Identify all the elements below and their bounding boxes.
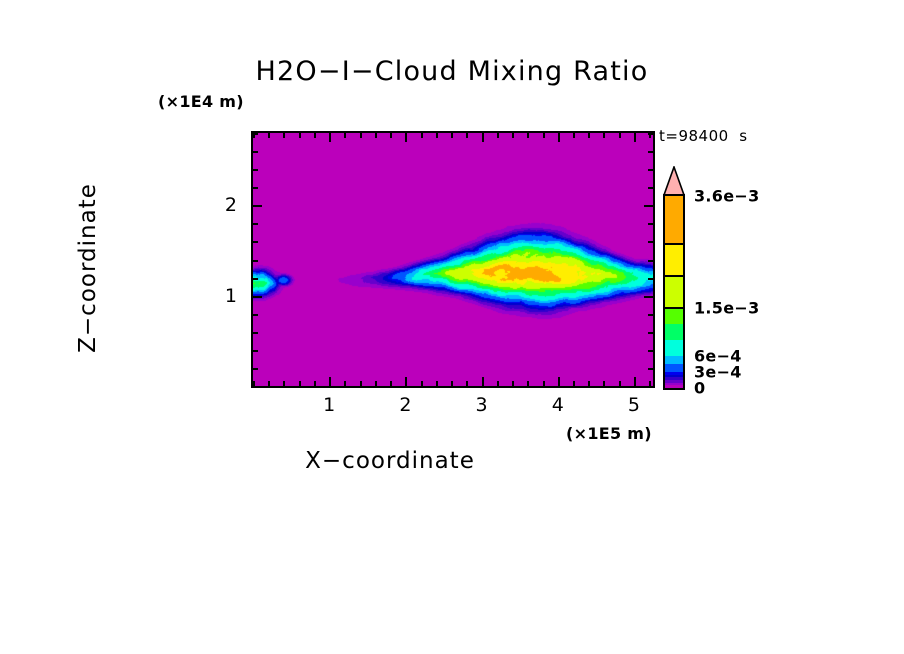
x-tick-top [390,133,392,138]
y-tick [253,278,258,280]
y-tick-right [648,223,653,225]
colorbar-band [665,244,683,276]
x-tick [466,381,468,386]
x-tick-top [375,133,377,138]
y-tick-right [648,133,653,135]
x-tick [344,381,346,386]
colorbar-band [665,377,683,380]
x-tick-top [588,133,590,138]
colorbar-band [665,308,683,324]
x-tick-label: 5 [628,394,640,416]
colorbar-band [665,364,683,372]
x-tick-top [299,133,301,138]
x-tick [482,377,484,386]
x-tick [497,381,499,386]
y-tick [253,169,258,171]
y-tick [253,332,258,334]
y-tick [253,296,262,298]
y-tick-right [644,296,653,298]
x-tick [314,381,316,386]
figure-root: H2O−I−Cloud Mixing Ratio (×1E4 m) (×1E5 … [0,0,904,654]
colorbar-band [665,196,683,244]
x-tick-label: 2 [399,394,411,416]
x-tick-top [421,133,423,138]
x-tick-top [603,133,605,138]
y-tick [253,205,262,207]
colorbar-band [665,372,683,375]
x-tick-top [573,133,575,138]
x-tick-top [314,133,316,138]
y-tick-right [644,205,653,207]
y-tick-right [648,332,653,334]
y-tick-label: 2 [213,194,237,216]
y-tick [253,260,258,262]
x-tick-top [634,133,636,142]
y-tick [253,314,258,316]
x-tick [573,381,575,386]
colorbar-band [665,276,683,308]
x-tick-top [497,133,499,138]
y-tick [253,241,258,243]
x-tick-label: 4 [552,394,564,416]
x-tick [375,381,377,386]
colorbar-separator [665,307,683,309]
x-tick [527,381,529,386]
x-tick-top [436,133,438,138]
colorbar-band [665,383,683,386]
x-tick [634,377,636,386]
chart-title: H2O−I−Cloud Mixing Ratio [0,56,904,87]
y-tick [253,386,258,388]
x-tick-top [619,133,621,138]
colorbar-band [665,324,683,340]
colorbar-tick-label: 1.5e−3 [694,299,760,318]
time-annotation: t=98400 s [659,127,748,145]
y-tick [253,133,258,135]
colorbar-extend-arrow [663,166,685,196]
x-tick-top [405,133,407,142]
x-tick [512,381,514,386]
y-tick-right [648,169,653,171]
x-tick [421,381,423,386]
x-tick-label: 1 [323,394,335,416]
x-tick [619,381,621,386]
colorbar-band [665,385,683,388]
x-tick-top [344,133,346,138]
x-tick [360,381,362,386]
x-tick-top [329,133,331,142]
x-tick [329,377,331,386]
x-tick-top [527,133,529,138]
colorbar-separator [665,275,683,277]
y-tick [253,368,258,370]
y-axis-title: Z−coordinate [75,118,101,418]
y-tick-right [648,151,653,153]
x-tick-top [360,133,362,138]
colorbar-band [665,340,683,356]
x-tick [451,381,453,386]
colorbar [663,194,685,390]
x-tick-top [558,133,560,142]
y-tick-right [648,187,653,189]
x-tick [405,377,407,386]
y-tick-label: 1 [213,285,237,307]
contour-field [253,133,653,386]
x-tick-label: 3 [476,394,488,416]
colorbar-band [665,375,683,378]
y-tick-right [648,386,653,388]
x-axis-title: X−coordinate [0,448,780,474]
y-tick [253,350,258,352]
x-tick [543,381,545,386]
x-tick [268,381,270,386]
y-tick-right [648,368,653,370]
x-tick [436,381,438,386]
plot-area [251,131,655,388]
y-tick [253,151,258,153]
x-tick-top [512,133,514,138]
colorbar-separator [665,243,683,245]
x-tick-top [268,133,270,138]
y-tick-right [648,350,653,352]
x-tick-top [543,133,545,138]
y-tick-right [648,278,653,280]
x-tick-top [451,133,453,138]
x-axis-unit-label: (×1E5 m) [566,424,652,443]
y-axis-unit-label: (×1E4 m) [158,92,244,111]
y-tick-right [648,314,653,316]
y-tick-right [648,260,653,262]
x-tick [390,381,392,386]
y-tick-right [648,241,653,243]
x-tick-top [283,133,285,138]
x-tick [283,381,285,386]
x-tick [603,381,605,386]
colorbar-tick-label: 0 [694,379,705,398]
colorbar-band [665,380,683,383]
y-tick [253,223,258,225]
x-tick [299,381,301,386]
y-tick [253,187,258,189]
x-tick-top [482,133,484,142]
colorbar-tick-label: 3.6e−3 [694,187,760,206]
x-tick [558,377,560,386]
x-tick-top [466,133,468,138]
x-tick [588,381,590,386]
colorbar-band [665,356,683,364]
